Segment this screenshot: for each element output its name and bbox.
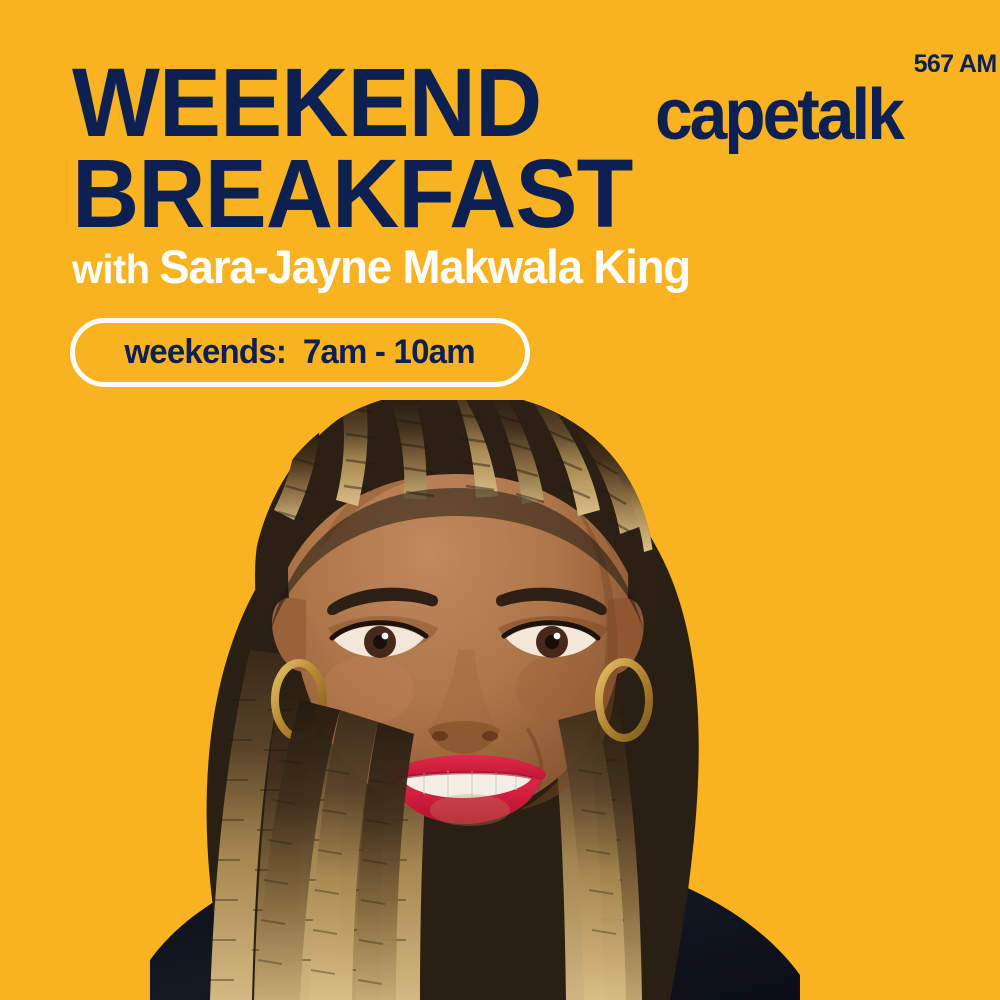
show-title-line-2: BREAKFAST (72, 149, 632, 238)
presenter-with-label: with (72, 246, 150, 292)
schedule-badge: weekends: 7am - 10am (70, 318, 530, 387)
presenter-photo (0, 400, 1000, 1000)
poster-canvas: capetalk 567 AM WEEKEND BREAKFAST withSa… (0, 0, 1000, 1000)
schedule-badge-label: weekends: 7am - 10am (125, 333, 475, 372)
show-title: WEEKEND BREAKFAST (72, 58, 656, 238)
capetalk-wordmark: capetalk (655, 80, 902, 151)
capetalk-frequency: 567 AM (914, 52, 997, 77)
presenter-line: withSara-Jayne Makwala King (72, 243, 690, 290)
capetalk-logo[interactable]: capetalk 567 AM (655, 52, 997, 151)
presenter-name: Sara-Jayne Makwala King (159, 240, 690, 293)
show-title-line-1: WEEKEND (72, 58, 632, 147)
